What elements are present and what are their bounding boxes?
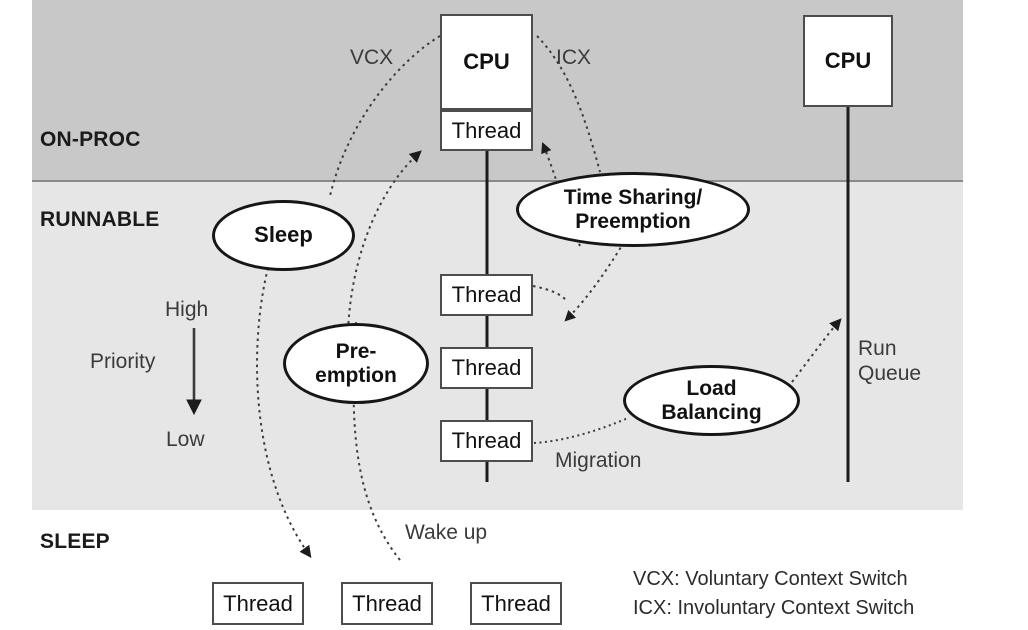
annotation-migration: Migration bbox=[555, 449, 641, 473]
ellipse-preemption-label: Pre- emption bbox=[315, 340, 397, 387]
annotation-run-queue: Run Queue bbox=[858, 337, 921, 386]
ellipse-load-balancing-line1: Load bbox=[686, 377, 736, 400]
thread-box-sleep-2[interactable]: Thread bbox=[341, 582, 433, 625]
state-label-on-proc: ON-PROC bbox=[40, 128, 141, 152]
transition-ellipse-preemption[interactable]: Pre- emption bbox=[283, 323, 429, 404]
annotation-wake-up: Wake up bbox=[405, 521, 487, 545]
annotation-priority-high: High bbox=[165, 298, 208, 322]
cpu-box-right[interactable]: CPU bbox=[803, 15, 893, 107]
annotation-priority: Priority bbox=[90, 350, 155, 374]
ellipse-time-sharing-line1: Time Sharing/ bbox=[564, 186, 702, 209]
cpu-box-left[interactable]: CPU bbox=[440, 14, 533, 110]
state-label-sleep: SLEEP bbox=[40, 530, 110, 554]
thread-box-on-cpu[interactable]: Thread bbox=[440, 110, 533, 151]
ellipse-time-sharing-label: Time Sharing/ Preemption bbox=[564, 186, 702, 233]
ellipse-preemption-line2: emption bbox=[315, 364, 397, 387]
annotation-priority-low: Low bbox=[166, 428, 205, 452]
annotation-vcx: VCX bbox=[350, 46, 393, 70]
transition-ellipse-time-sharing-preemption[interactable]: Time Sharing/ Preemption bbox=[516, 172, 750, 247]
ellipse-load-balancing-line2: Balancing bbox=[661, 401, 761, 424]
thread-box-runqueue-3[interactable]: Thread bbox=[440, 420, 533, 462]
ellipse-sleep-label: Sleep bbox=[254, 223, 313, 248]
ellipse-preemption-line1: Pre- bbox=[336, 340, 377, 363]
legend-vcx: VCX: Voluntary Context Switch bbox=[633, 565, 914, 594]
ellipse-load-balancing-label: Load Balancing bbox=[661, 377, 761, 424]
annotation-icx: ICX bbox=[556, 46, 591, 70]
legend-icx: ICX: Involuntary Context Switch bbox=[633, 594, 914, 623]
thread-box-runqueue-1[interactable]: Thread bbox=[440, 274, 533, 316]
diagram-canvas: ON-PROC RUNNABLE SLEEP CPU Thread CPU Th… bbox=[0, 0, 1028, 630]
ellipse-time-sharing-line2: Preemption bbox=[575, 210, 691, 233]
thread-box-runqueue-2[interactable]: Thread bbox=[440, 347, 533, 389]
band-divider bbox=[32, 180, 963, 182]
annotation-run-queue-line1: Run bbox=[858, 337, 897, 360]
thread-box-sleep-3[interactable]: Thread bbox=[470, 582, 562, 625]
legend: VCX: Voluntary Context Switch ICX: Invol… bbox=[633, 565, 914, 623]
transition-ellipse-sleep[interactable]: Sleep bbox=[212, 200, 355, 271]
transition-ellipse-load-balancing[interactable]: Load Balancing bbox=[623, 365, 800, 436]
thread-box-sleep-1[interactable]: Thread bbox=[212, 582, 304, 625]
state-label-runnable: RUNNABLE bbox=[40, 208, 159, 232]
annotation-run-queue-line2: Queue bbox=[858, 362, 921, 385]
